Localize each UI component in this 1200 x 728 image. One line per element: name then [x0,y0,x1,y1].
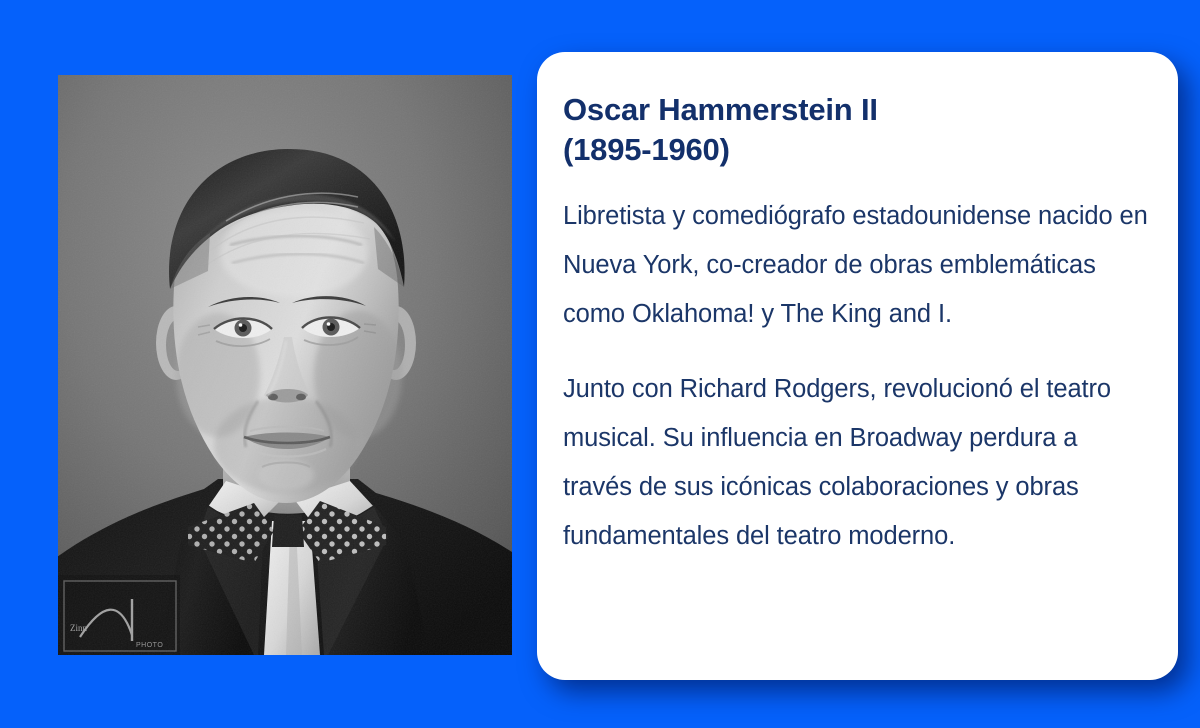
card-paragraph-2: Junto con Richard Rodgers, revolucionó e… [563,365,1150,561]
portrait-photo-image: Zinn PHOTO [58,75,512,655]
portrait-photo: Zinn PHOTO [58,75,512,655]
card-title: Oscar Hammerstein II (1895-1960) [563,90,1150,170]
info-card-slide: Zinn PHOTO Oscar Hammerstein II (1895-19… [0,0,1200,728]
card-paragraph-1: Libretista y comediógrafo estadounidense… [563,192,1150,339]
info-card: Oscar Hammerstein II (1895-1960) Libreti… [537,52,1178,680]
